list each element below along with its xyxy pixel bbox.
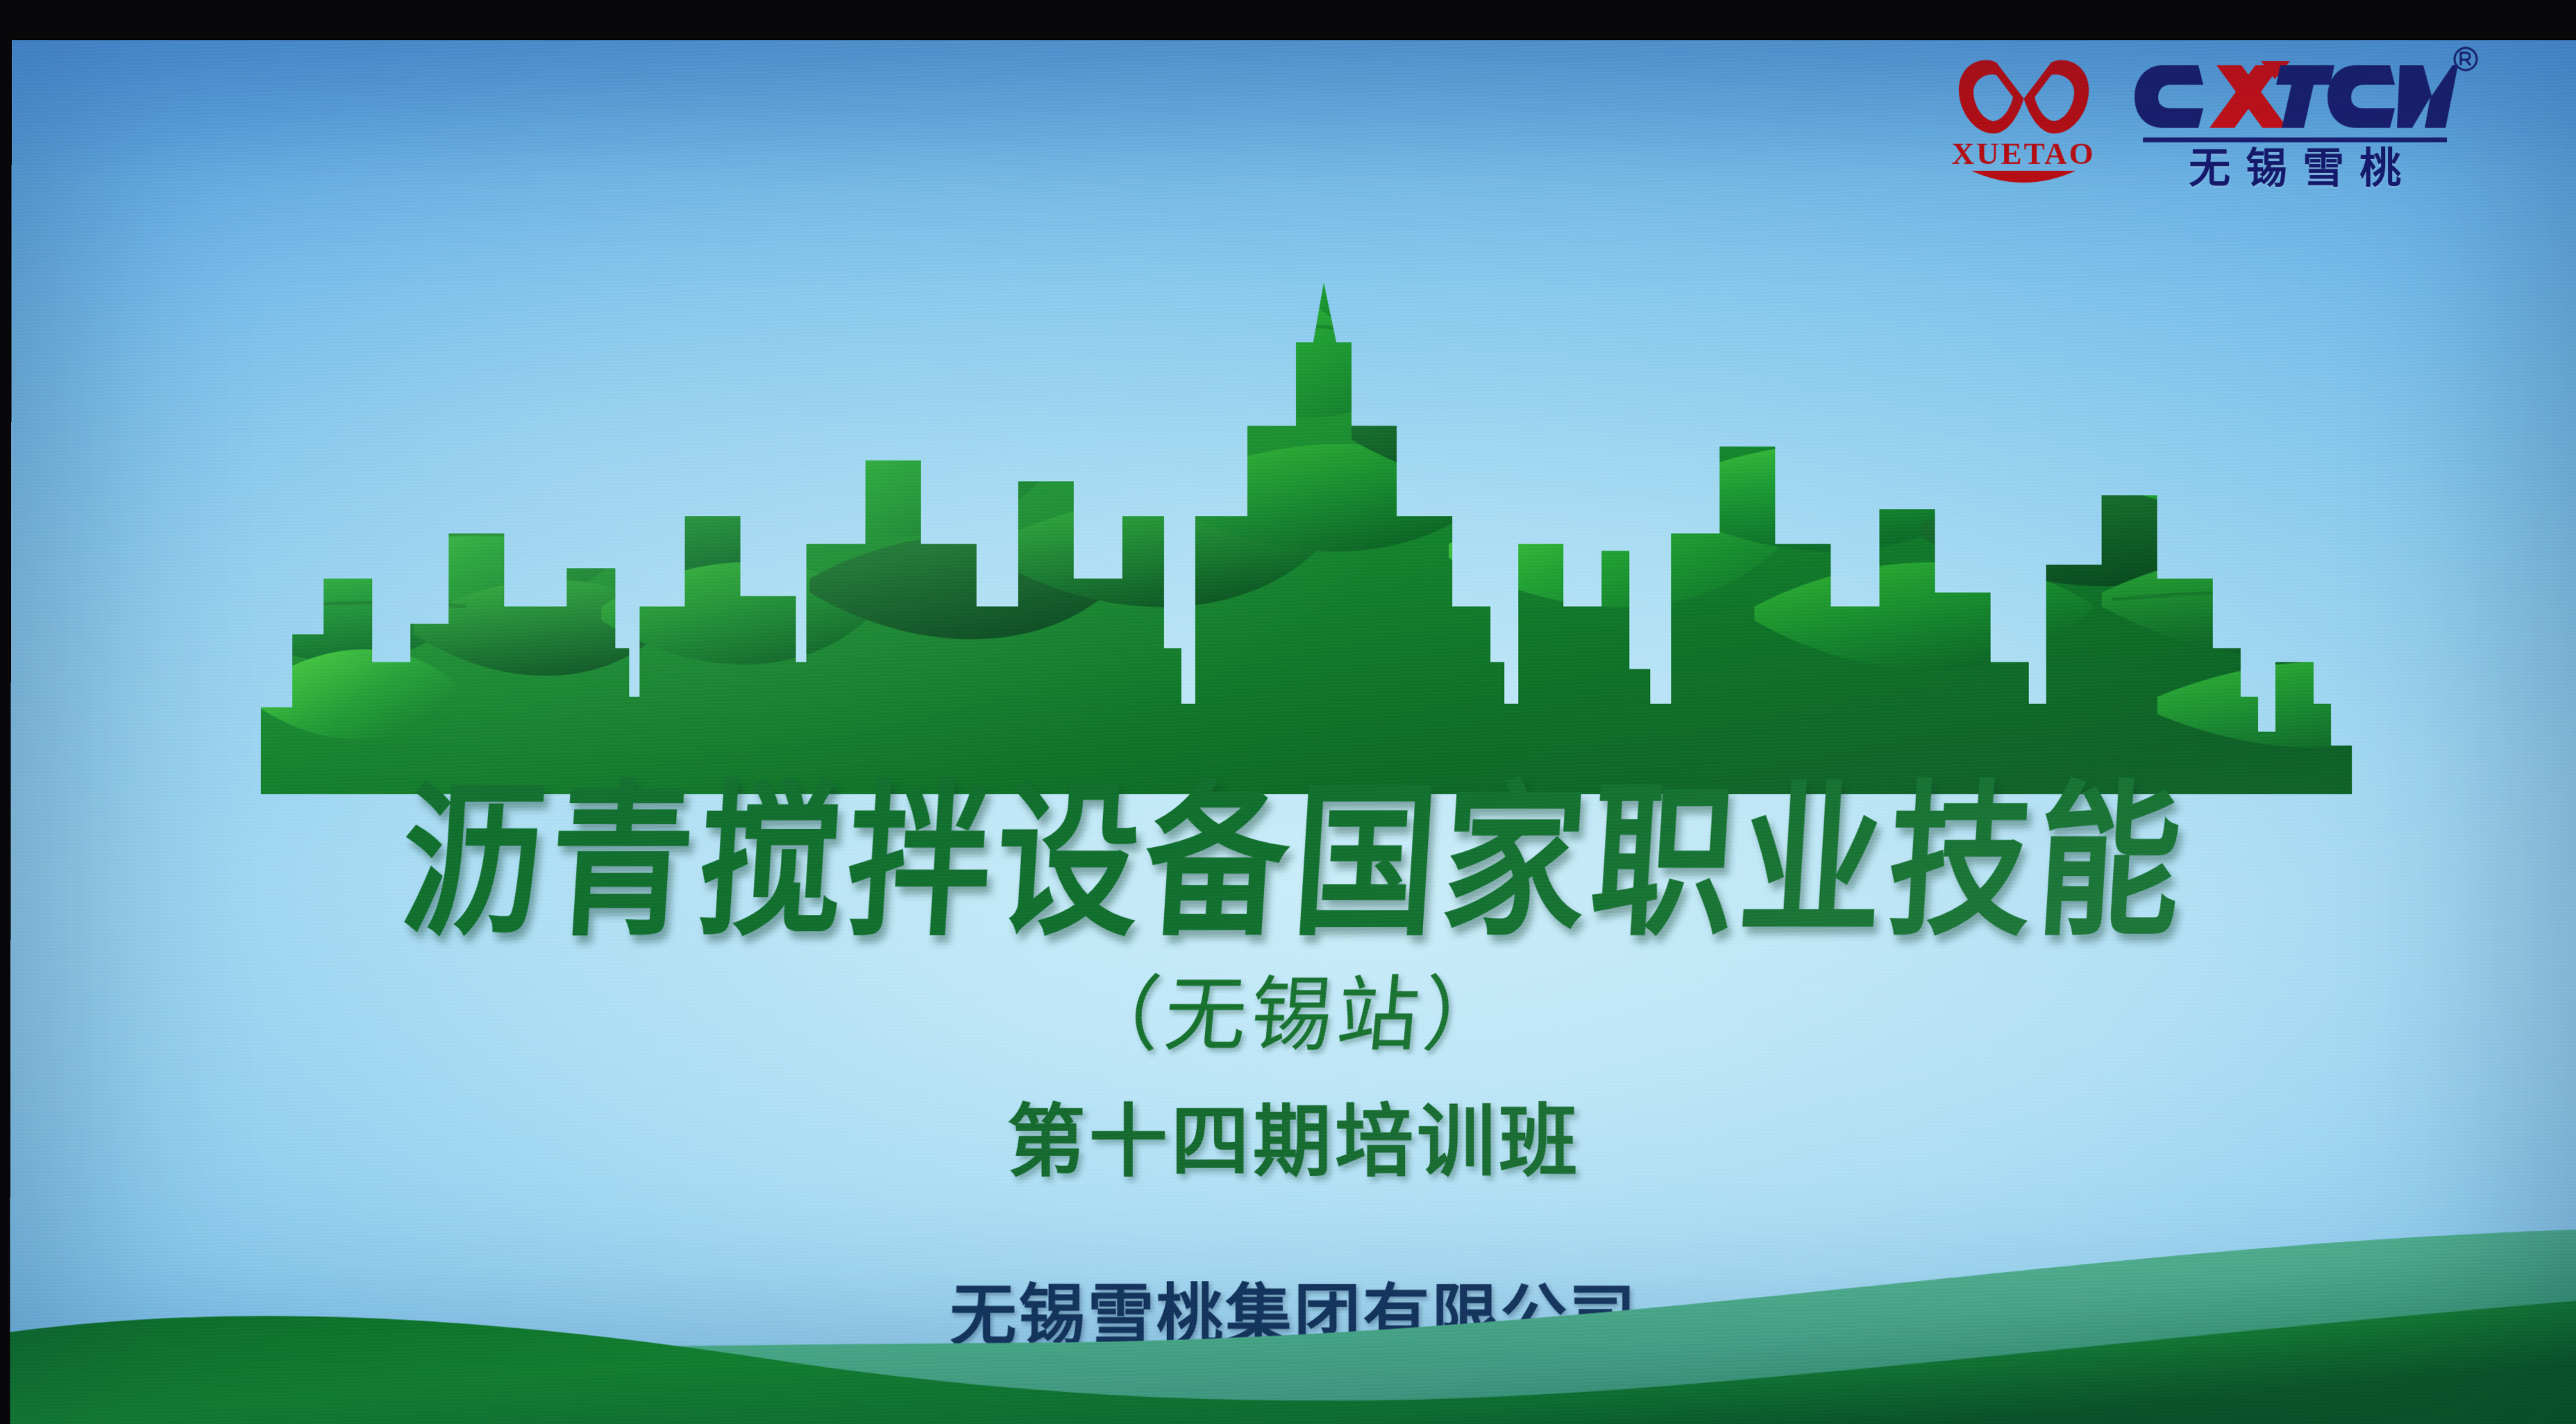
- xuetao-logo: XUETAO: [1947, 56, 2100, 187]
- xuetao-wordmark: XUETAO: [1952, 138, 2096, 169]
- leaf-city-skyline-graphic: [240, 217, 2393, 794]
- cxtcm-wordmark: [2132, 58, 2458, 133]
- presentation-screen[interactable]: XUETAO: [10, 40, 2576, 1424]
- cxtcm-divider-rule: [2143, 137, 2447, 142]
- cxtcm-chinese-name: 无锡雪桃: [2173, 146, 2416, 192]
- company-name: 无锡雪桃集团有限公司: [10, 1282, 2576, 1348]
- logo-block: XUETAO: [1947, 56, 2458, 192]
- xuetao-underline-swoosh: [1971, 171, 2076, 187]
- registered-trademark-icon: [2452, 46, 2479, 72]
- slide-title-location: （无锡站）: [10, 975, 2576, 1057]
- cxtcm-logo: 无锡雪桃: [2132, 56, 2458, 192]
- slide-title-batch: 第十四期培训班: [10, 1103, 2576, 1181]
- room-photo: XUETAO: [0, 0, 2576, 1424]
- slide-title-main: 沥青搅拌设备国家职业技能: [10, 779, 2576, 945]
- xuetao-butterfly-mark: [1956, 60, 2091, 137]
- slide-date: 2026年01月: [10, 1370, 2576, 1424]
